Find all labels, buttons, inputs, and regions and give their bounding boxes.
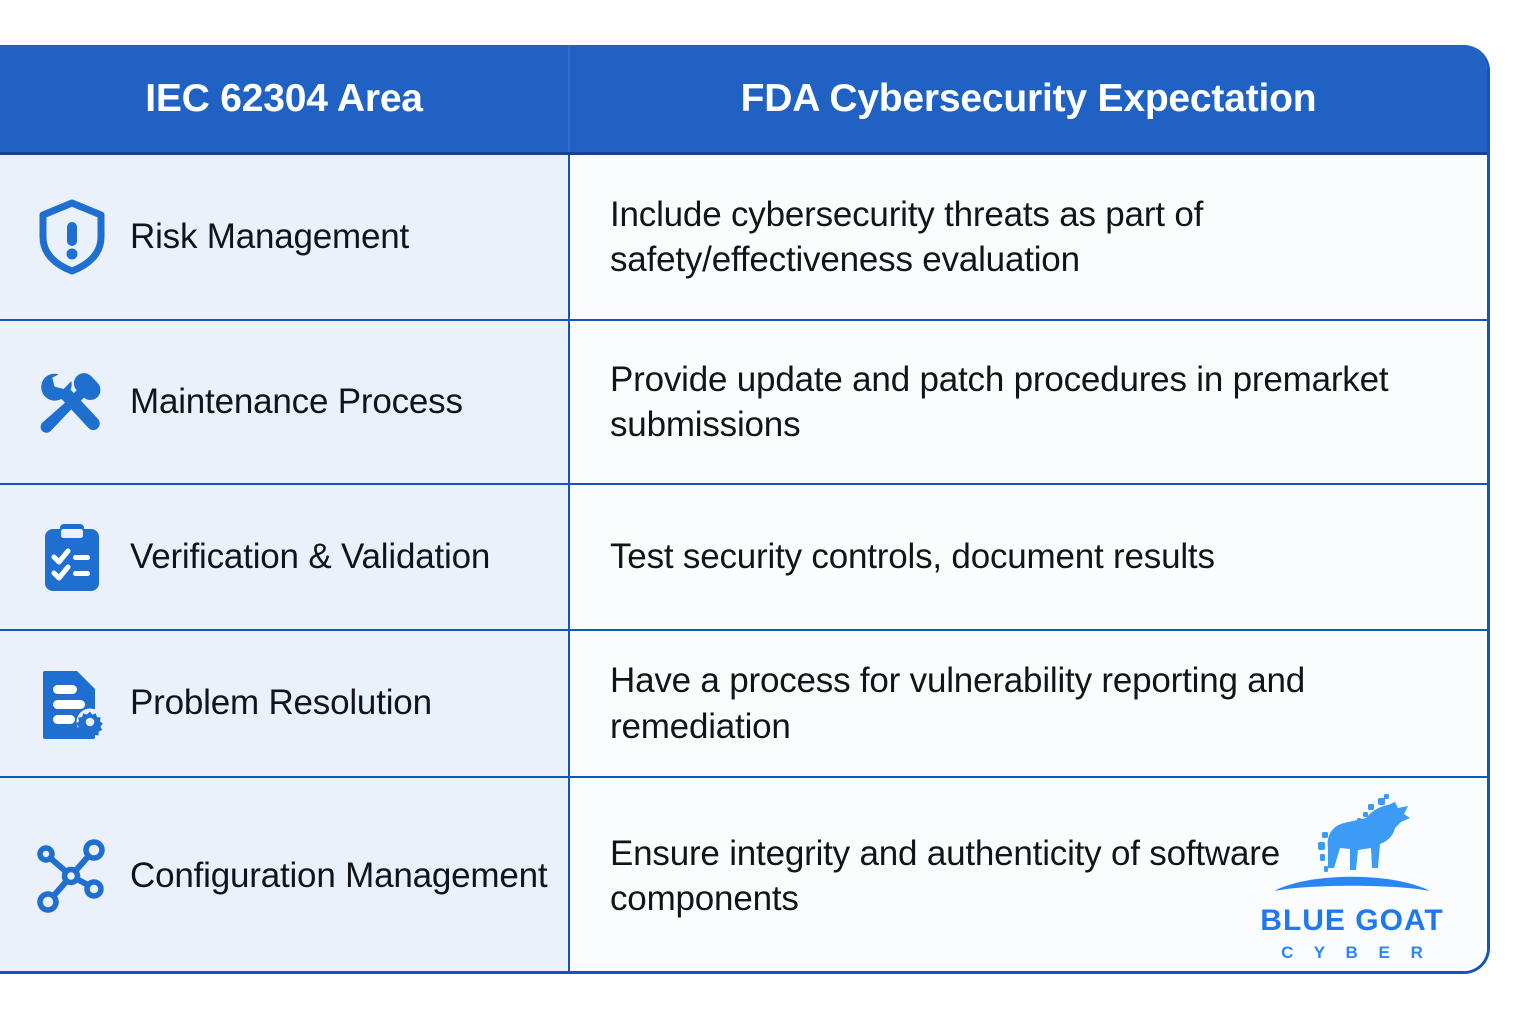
table-row: Maintenance Process Provide update and p…: [0, 321, 1487, 485]
table-row: Verification & Validation Test security …: [0, 485, 1487, 631]
expectation-cell: Test security controls, document results: [570, 485, 1487, 629]
document-gear-icon: [34, 666, 110, 742]
expectation-text: Provide update and patch procedures in p…: [610, 357, 1410, 448]
area-cell: Verification & Validation: [0, 485, 570, 629]
expectation-cell: Provide update and patch procedures in p…: [570, 321, 1487, 483]
comparison-table: IEC 62304 Area FDA Cybersecurity Expecta…: [0, 45, 1490, 974]
area-label: Configuration Management: [130, 854, 547, 899]
expectation-cell: Have a process for vulnerability reporti…: [570, 631, 1487, 776]
expectation-text: Test security controls, document results: [610, 534, 1215, 580]
table-row: Configuration Management Ensure integrit…: [0, 778, 1487, 974]
shield-alert-icon: [34, 199, 110, 275]
logo-subtitle: C Y B E R: [1273, 944, 1431, 961]
area-label: Problem Resolution: [130, 681, 432, 726]
column-header-fda-expectation: FDA Cybersecurity Expectation: [570, 45, 1487, 152]
area-label: Verification & Validation: [130, 535, 490, 580]
expectation-text: Have a process for vulnerability reporti…: [610, 658, 1410, 749]
area-cell: Problem Resolution: [0, 631, 570, 776]
table-header-row: IEC 62304 Area FDA Cybersecurity Expecta…: [0, 45, 1487, 155]
expectation-text: Include cybersecurity threats as part of…: [610, 192, 1410, 283]
table-row: Problem Resolution Have a process for vu…: [0, 631, 1487, 778]
area-label: Risk Management: [130, 215, 409, 260]
area-label: Maintenance Process: [130, 380, 463, 425]
expectation-cell: Ensure integrity and authenticity of sof…: [570, 778, 1487, 974]
table-row: Risk Management Include cybersecurity th…: [0, 155, 1487, 321]
area-cell: Configuration Management: [0, 778, 570, 974]
column-header-iec-area: IEC 62304 Area: [0, 45, 570, 152]
network-nodes-icon: [34, 838, 110, 914]
area-cell: Maintenance Process: [0, 321, 570, 483]
area-cell: Risk Management: [0, 155, 570, 319]
wrench-screwdriver-icon: [34, 364, 110, 440]
expectation-cell: Include cybersecurity threats as part of…: [570, 155, 1487, 319]
clipboard-check-icon: [34, 519, 110, 595]
expectation-text: Ensure integrity and authenticity of sof…: [610, 831, 1410, 922]
